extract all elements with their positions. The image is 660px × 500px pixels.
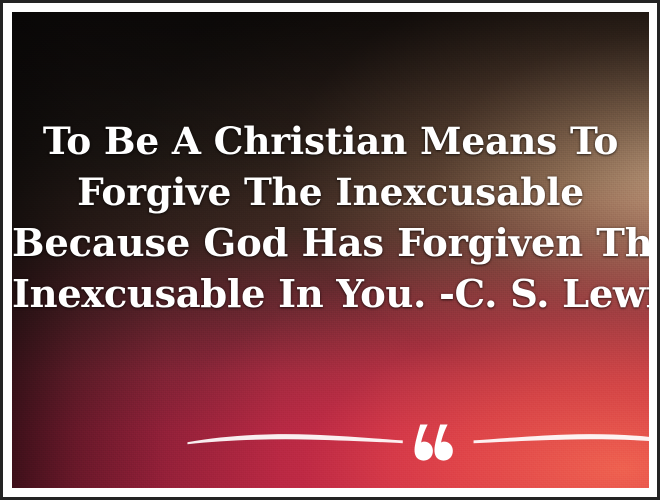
quote-line-1: To Be A Christian Means To	[12, 116, 649, 167]
poster-inner-white-frame: To Be A Christian Means To Forgive The I…	[3, 3, 657, 497]
quote-poster: To Be A Christian Means To Forgive The I…	[0, 0, 660, 500]
quote-glyph-right-mark	[434, 425, 452, 461]
quote-mark-divider	[12, 414, 649, 470]
quote-line-3: Because God Has Forgiven The	[12, 218, 649, 269]
poster-artwork-canvas: To Be A Christian Means To Forgive The I…	[12, 12, 649, 488]
quote-line-4: Inexcusable In You. -C. S. Lewis	[12, 269, 649, 320]
quote-line-2: Forgive The Inexcusable	[12, 167, 649, 218]
divider-right-rule	[474, 434, 649, 444]
divider-left-rule	[187, 434, 402, 444]
quote-glyph-left-mark	[415, 425, 433, 461]
quote-text-block: To Be A Christian Means To Forgive The I…	[12, 116, 649, 320]
